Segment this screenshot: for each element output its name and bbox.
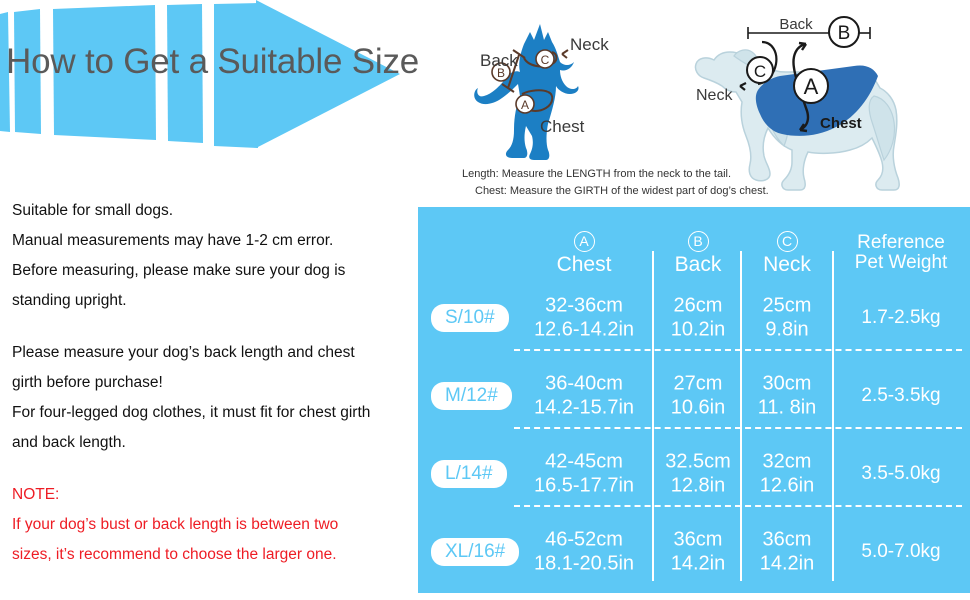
cell-back-cm: 27cm [658, 372, 738, 396]
cell-back: 36cm 14.2in [658, 528, 738, 575]
spacer [12, 458, 432, 480]
instruction-line: Please measure your dog’s back length an… [12, 338, 432, 368]
cat-label-neck: Neck [570, 35, 609, 54]
cell-chest-cm: 32-36cm [514, 294, 654, 318]
cat-measurement-diagram: A B C Back Neck Chest [462, 10, 632, 170]
column-header-neck: C Neck [744, 231, 830, 275]
spacer [12, 316, 432, 338]
table-header-row: A Chest B Back C Neck Reference Pet Weig… [418, 207, 970, 279]
table-row[interactable]: M/12# 36-40cm 14.2-15.7in 27cm 10.6in 30… [418, 357, 970, 435]
column-divider [832, 251, 834, 581]
cell-neck-in: 11. 8in [744, 396, 830, 420]
cell-chest-in: 14.2-15.7in [514, 396, 654, 420]
note-line: If your dog’s bust or back length is bet… [12, 510, 432, 540]
instruction-line: and back length. [12, 428, 432, 458]
cell-back-cm: 32.5cm [658, 450, 738, 474]
dog-marker-a-label: A [804, 74, 819, 99]
cell-back-cm: 36cm [658, 528, 738, 552]
column-header-back: B Back [658, 231, 738, 275]
circle-a-icon: A [574, 231, 595, 252]
note-heading: NOTE: [12, 480, 432, 510]
size-badge[interactable]: XL/16# [431, 538, 519, 566]
cell-weight: 3.5-5.0kg [834, 463, 968, 485]
cell-chest-cm: 42-45cm [514, 450, 654, 474]
column-header-chest-label: Chest [514, 254, 654, 275]
cell-chest: 32-36cm 12.6-14.2in [514, 294, 654, 341]
size-badge[interactable]: L/14# [431, 460, 507, 488]
row-divider [514, 505, 962, 507]
cat-marker-a: A [516, 95, 534, 113]
cell-chest-cm: 36-40cm [514, 372, 654, 396]
cat-marker-c: C [536, 50, 554, 68]
column-header-neck-label: Neck [744, 254, 830, 275]
caption-line-length: Length: Measure the LENGTH from the neck… [462, 166, 822, 183]
cell-neck-in: 14.2in [744, 552, 830, 576]
cat-label-back: Back [480, 51, 518, 70]
cell-chest: 46-52cm 18.1-20.5in [514, 528, 654, 575]
column-header-chest: A Chest [514, 231, 654, 275]
cell-neck: 30cm 11. 8in [744, 372, 830, 419]
cat-svg: A B C Back Neck Chest [462, 10, 632, 170]
cell-back: 27cm 10.6in [658, 372, 738, 419]
size-guide-page: How to Get a Suitable Size Suitable for … [0, 0, 970, 600]
circle-b-icon: B [688, 231, 709, 252]
cell-neck-cm: 30cm [744, 372, 830, 396]
cell-neck-cm: 36cm [744, 528, 830, 552]
cell-chest: 42-45cm 16.5-17.7in [514, 450, 654, 497]
caption-line-chest: Chest: Measure the GIRTH of the widest p… [462, 183, 822, 200]
page-title: How to Get a Suitable Size [6, 42, 419, 82]
instruction-line: Suitable for small dogs. [12, 196, 432, 226]
column-divider [652, 251, 654, 581]
cell-weight: 2.5-3.5kg [834, 385, 968, 407]
row-divider [514, 427, 962, 429]
cell-back-in: 10.6in [658, 396, 738, 420]
cell-back: 32.5cm 12.8in [658, 450, 738, 497]
cell-back-in: 14.2in [658, 552, 738, 576]
instruction-line: standing upright. [12, 286, 432, 316]
table-row[interactable]: S/10# 32-36cm 12.6-14.2in 26cm 10.2in 25… [418, 279, 970, 357]
column-header-weight-line2: Pet Weight [834, 253, 968, 273]
size-chart-table: A Chest B Back C Neck Reference Pet Weig… [418, 207, 970, 593]
dog-marker-c: C [747, 57, 773, 83]
cell-back-cm: 26cm [658, 294, 738, 318]
column-divider [740, 251, 742, 581]
column-header-back-label: Back [658, 254, 738, 275]
cell-back: 26cm 10.2in [658, 294, 738, 341]
cell-neck-cm: 25cm [744, 294, 830, 318]
cell-chest-cm: 46-52cm [514, 528, 654, 552]
cell-neck: 25cm 9.8in [744, 294, 830, 341]
table-row[interactable]: XL/16# 46-52cm 18.1-20.5in 36cm 14.2in 3… [418, 513, 970, 591]
cat-marker-c-label: C [541, 53, 550, 67]
cat-label-chest: Chest [540, 117, 585, 136]
instruction-line: Before measuring, please make sure your … [12, 256, 432, 286]
cell-neck-in: 12.6in [744, 474, 830, 498]
size-badge[interactable]: M/12# [431, 382, 512, 410]
column-header-weight: Reference Pet Weight [834, 233, 968, 273]
cell-neck-in: 9.8in [744, 318, 830, 342]
dog-marker-c-label: C [754, 62, 766, 81]
cell-chest-in: 12.6-14.2in [514, 318, 654, 342]
cell-weight: 1.7-2.5kg [834, 307, 968, 329]
cell-chest-in: 16.5-17.7in [514, 474, 654, 498]
banner-arrow-graphic: How to Get a Suitable Size [0, 0, 420, 160]
cell-neck: 32cm 12.6in [744, 450, 830, 497]
cell-back-in: 12.8in [658, 474, 738, 498]
cell-neck-cm: 32cm [744, 450, 830, 474]
cell-weight: 5.0-7.0kg [834, 541, 968, 563]
dog-label-chest: Chest [820, 115, 862, 132]
size-badge[interactable]: S/10# [431, 304, 509, 332]
cell-chest-in: 18.1-20.5in [514, 552, 654, 576]
measurement-caption: Length: Measure the LENGTH from the neck… [462, 166, 822, 200]
instruction-line: Manual measurements may have 1-2 cm erro… [12, 226, 432, 256]
cell-chest: 36-40cm 14.2-15.7in [514, 372, 654, 419]
instruction-line: For four-legged dog clothes, it must fit… [12, 398, 432, 428]
column-header-weight-line1: Reference [834, 233, 968, 253]
cat-neck-arrow [562, 50, 568, 58]
dog-label-neck: Neck [696, 87, 733, 104]
dog-marker-b-label: B [838, 23, 851, 44]
instruction-line: girth before purchase! [12, 368, 432, 398]
table-row[interactable]: L/14# 42-45cm 16.5-17.7in 32.5cm 12.8in … [418, 435, 970, 513]
dog-label-back: Back [779, 16, 813, 33]
instructions-block: Suitable for small dogs. Manual measurem… [12, 196, 432, 570]
cell-back-in: 10.2in [658, 318, 738, 342]
row-divider [514, 349, 962, 351]
cell-neck: 36cm 14.2in [744, 528, 830, 575]
dog-marker-a: A [794, 69, 828, 103]
cat-marker-a-label: A [521, 98, 529, 112]
note-line: sizes, it’s recommend to choose the larg… [12, 540, 432, 570]
circle-c-icon: C [777, 231, 798, 252]
dog-marker-b: B [829, 17, 859, 47]
